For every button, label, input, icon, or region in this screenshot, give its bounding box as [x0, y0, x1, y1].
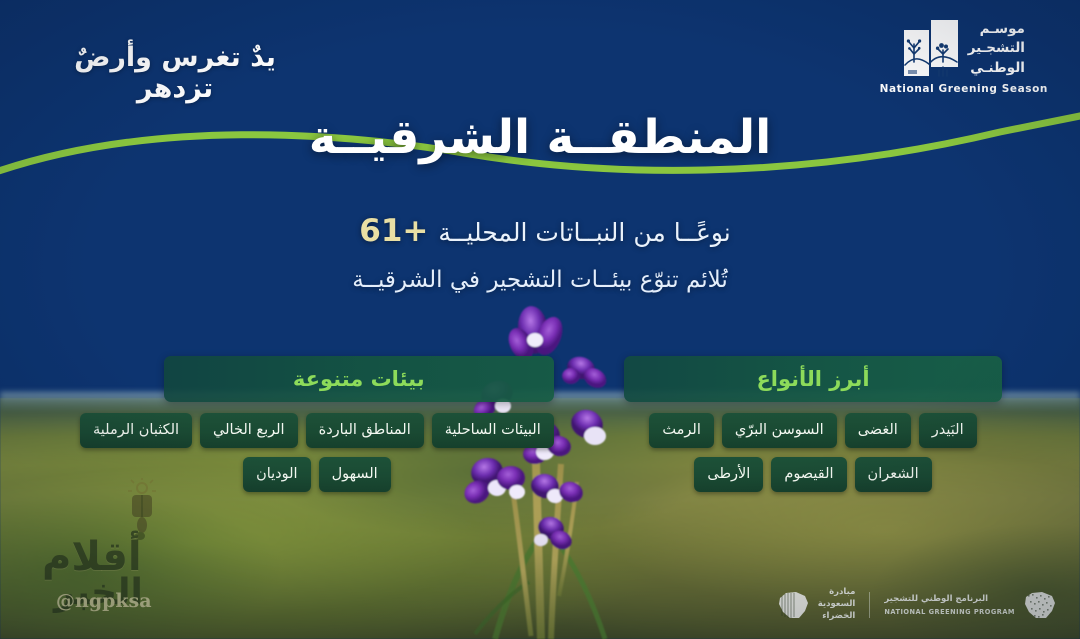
logo-ar-line-1: موسـم [968, 20, 1025, 39]
watermark: أقلام الخبر @ngpksa [24, 478, 184, 613]
environment-tag[interactable]: البيئات الساحلية [432, 413, 554, 448]
species-panel-heading: أبرز الأنواع [624, 356, 1002, 402]
environment-tag[interactable]: الربع الخالي [200, 413, 298, 448]
footer-logos: البرنامج الوطني للتشجير NATIONAL GREENIN… [777, 587, 1058, 623]
saudi-map-dotted-icon [1022, 589, 1058, 621]
tree-hills-logo-icon [903, 18, 959, 80]
subtitle-line-2: تُلائم تنوّع بيئــات التشجير في الشرقيــ… [0, 267, 1080, 293]
sgi-ar-line-3: الخضراء [818, 611, 856, 623]
species-tag-rows: البَيدر الغضى السوسن البرّي الرمث الشعرا… [624, 413, 1002, 492]
ngp-logo-arabic: البرنامج الوطني للتشجير [884, 594, 988, 606]
national-greening-program-logo: البرنامج الوطني للتشجير NATIONAL GREENIN… [884, 589, 1058, 621]
logo-arabic-text: موسـم التشجـير الوطنـي [968, 20, 1025, 77]
species-tag[interactable]: السوسن البرّي [722, 413, 837, 448]
species-tag-row-1: البَيدر الغضى السوسن البرّي الرمث [624, 413, 1002, 448]
subtitle-text-before: نوعًــا من النبــاتات المحليــة [438, 218, 730, 247]
environments-panel-heading: بيئات متنوعة [164, 356, 554, 402]
watermark-handle: @ngpksa [56, 590, 152, 612]
species-tag[interactable]: الشعران [855, 457, 932, 492]
species-tag-row-2: الشعران القيصوم الأرطى [624, 457, 1002, 492]
species-tag[interactable]: الغضى [845, 413, 911, 448]
species-tag[interactable]: القيصوم [771, 457, 846, 492]
national-greening-season-logo: موسـم التشجـير الوطنـي [880, 18, 1048, 95]
logo-ar-line-2: التشجـير [968, 39, 1025, 58]
ngp-logo-english: NATIONAL GREENING PROGRAM [884, 608, 1015, 616]
environments-panel: بيئات متنوعة البيئات الساحلية المناطق ال… [80, 356, 554, 492]
environment-tag[interactable]: المناطق الباردة [306, 413, 424, 448]
environment-tag[interactable]: الكثبان الرملية [80, 413, 192, 448]
infographic-poster: يدٌ تغرس وأرضٌ تزدهر موسـم التشجـير الوط… [0, 0, 1080, 639]
species-panel: أبرز الأنواع البَيدر الغضى السوسن البرّي… [624, 356, 1002, 492]
logo-ar-line-3: الوطنـي [968, 59, 1025, 78]
sgi-logo-arabic: مبادرة السعودية الخضراء [818, 587, 856, 623]
saudi-map-icon [777, 590, 811, 620]
sgi-ar-line-2: السعودية [818, 599, 856, 611]
species-count-badge: 61+ [359, 208, 428, 255]
subtitle-block: نوعًــا من النبــاتات المحليــة61+ تُلائ… [0, 208, 1080, 293]
species-tag[interactable]: الأرطى [694, 457, 763, 492]
page-title: المنطقــة الشرقيــة [0, 110, 1080, 165]
campaign-slogan: يدٌ تغرس وأرضٌ تزدهر [40, 42, 310, 104]
species-tag[interactable]: البَيدر [919, 413, 977, 448]
sgi-ar-line-1: مبادرة [818, 587, 856, 599]
species-tag[interactable]: الرمث [649, 413, 713, 448]
saudi-green-initiative-logo: مبادرة السعودية الخضراء [777, 587, 856, 623]
subtitle-line-1: نوعًــا من النبــاتات المحليــة61+ [0, 208, 1080, 255]
logo-english-text: National Greening Season [880, 83, 1048, 95]
environment-tag[interactable]: الوديان [243, 457, 311, 492]
environment-tag-row-1: البيئات الساحلية المناطق الباردة الربع ا… [80, 413, 554, 448]
environment-tag[interactable]: السهول [319, 457, 391, 492]
footer-logo-divider [869, 592, 870, 618]
